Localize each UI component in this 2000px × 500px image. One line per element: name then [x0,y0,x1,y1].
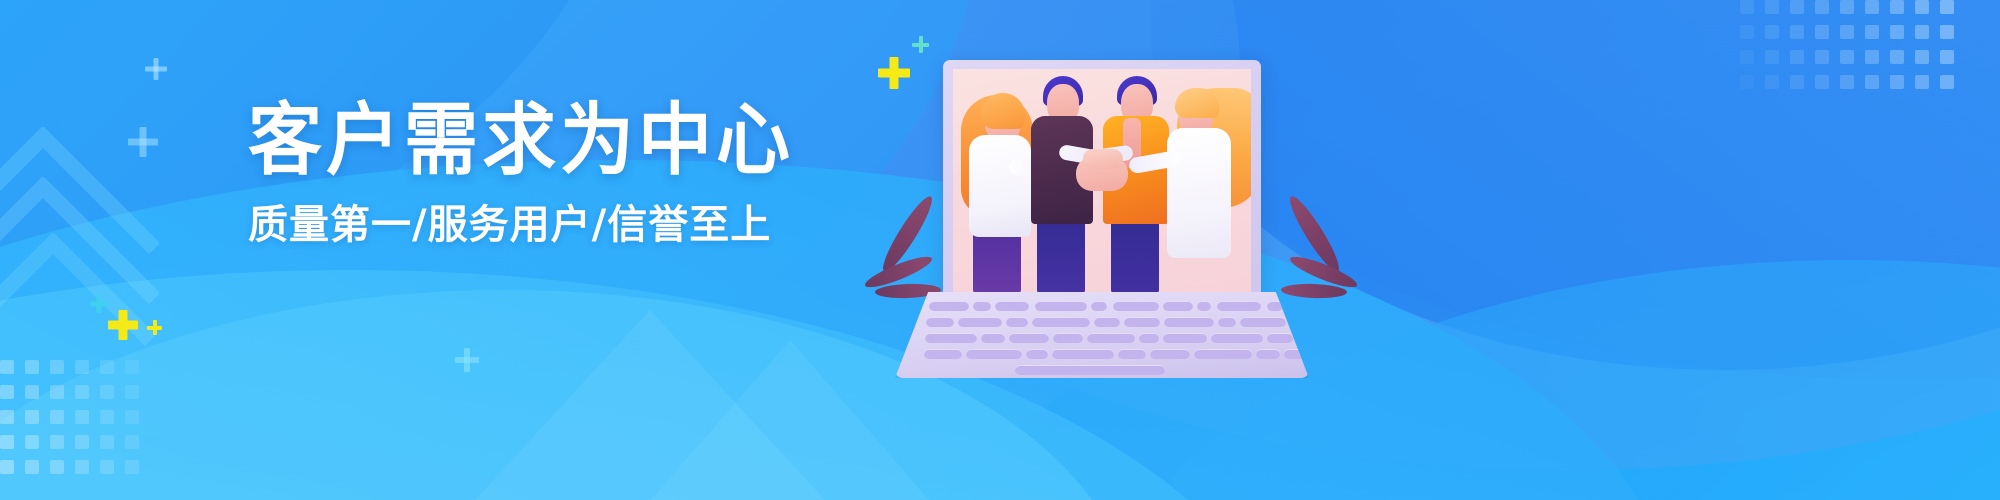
grid-dot [125,435,139,449]
banner-subtitle: 质量第一/服务用户/信誉至上 [248,200,808,250]
keyboard-key [1211,333,1263,343]
grid-dot [50,460,64,474]
keyboard-key [973,301,991,311]
grid-dot [100,360,114,374]
grid-dot [75,385,89,399]
grid-dot [1740,25,1754,39]
person-1-hair-front [981,93,1025,129]
grid-dot [1740,50,1754,64]
keyboard-key [1026,349,1048,359]
grid-dot [1840,0,1854,14]
grid-dot [1815,50,1829,64]
grid-dot [125,385,139,399]
page-title: 客户需求为中心 [248,96,808,185]
keyboard-key [1035,301,1087,311]
keyboard-key [1163,333,1207,343]
keyboard-key [1163,301,1193,311]
laptop-illustration [895,40,1325,370]
dot-grid-top-right [1740,0,2000,120]
grid-dot [1940,0,1954,14]
grid-dot [1865,25,1879,39]
grid-dot [25,360,39,374]
grid-dot [1790,75,1804,89]
keyboard-key [1032,317,1090,327]
keyboard-key [1218,317,1236,327]
keyboard-key [1267,301,1283,311]
keyboard-key [1124,317,1160,327]
keyboard-key [1113,301,1159,311]
keyboard-key [1256,349,1280,359]
grid-dot [100,460,114,474]
grid-dot [0,385,14,399]
grid-dot [100,385,114,399]
grid-dot [1915,25,1929,39]
plus-icon-pale-left [128,127,158,157]
grid-dot [0,460,14,474]
grid-dot [50,410,64,424]
grid-dot [75,460,89,474]
keyboard-key [1150,349,1190,359]
promo-banner: 客户需求为中心 质量第一/服务用户/信誉至上 [0,0,2000,500]
keyboard-key [1091,301,1107,311]
grid-dot [1840,25,1854,39]
grid-dot [1865,0,1879,14]
grid-dot [1890,75,1904,89]
grid-dot [0,360,14,374]
grid-dot [100,435,114,449]
grid-dot [1940,25,1954,39]
grid-dot [125,410,139,424]
keyboard-key [1164,317,1214,327]
grid-dot [50,435,64,449]
grid-dot [1890,0,1904,14]
keyboard-key [1006,317,1028,327]
keyboard-key [1087,333,1135,343]
person-4 [1159,69,1251,294]
keyboard-key [1194,349,1252,359]
keyboard-key [1094,317,1120,327]
keyboard-key [1052,349,1114,359]
grid-dot [50,385,64,399]
grid-dot [125,360,139,374]
grid-dot [0,435,14,449]
keyboard-key [995,301,1029,311]
grid-dot [1865,50,1879,64]
keyboard-key [1118,349,1146,359]
grid-dot [100,410,114,424]
grid-dot [1915,0,1929,14]
keyboard-key [1240,317,1286,327]
laptop-lid [943,60,1261,300]
grid-dot [1890,25,1904,39]
grid-dot [1815,0,1829,14]
keyboard-key [1009,333,1049,343]
grid-dot [0,410,14,424]
grid-dot [1765,75,1779,89]
person-1-cardigan [969,135,1031,237]
grid-dot [1765,50,1779,64]
plus-icon-cyan-bottom [90,295,108,313]
keyboard-key [1290,317,1304,327]
keyboard-key [924,349,962,359]
grid-dot [1915,75,1929,89]
keyboard-key [925,333,977,343]
grid-dot [1840,50,1854,64]
grid-dot [75,410,89,424]
grid-dot [1790,50,1804,64]
keyboard-key [1053,333,1083,343]
keyboard-key [1267,333,1293,343]
grid-dot [1765,25,1779,39]
grid-dot [1915,50,1929,64]
plus-icon-yellow-bottom-small [147,320,162,335]
grid-dot [125,460,139,474]
keyboard-key [1217,301,1261,311]
grid-dot [1940,75,1954,89]
keyboard-key [1284,349,1316,359]
joined-hands-upper [1083,149,1123,169]
plus-icon-pale-top-left [145,58,167,80]
keyboard-key [1297,333,1315,343]
person-4-dress [1167,128,1231,258]
grid-dot [1740,75,1754,89]
grid-dot [1790,25,1804,39]
keyboard-key-spacebar [1015,365,1165,375]
grid-dot [1840,75,1854,89]
grid-dot [1740,0,1754,14]
laptop-keyboard-base [895,292,1309,378]
grid-dot [75,360,89,374]
grid-dot [25,435,39,449]
laptop-screen [953,69,1251,294]
keyboard-key [926,317,954,327]
keyboard-key [1197,301,1211,311]
keyboard-key [929,301,969,311]
keyboard-key [1139,333,1159,343]
grid-dot [25,385,39,399]
keyboard-key [966,349,1022,359]
grid-dot [1815,25,1829,39]
keyboard-key [981,333,1005,343]
grid-dot [25,410,39,424]
plus-icon-yellow-bottom [108,310,138,340]
grid-dot [1890,50,1904,64]
grid-dot [1815,75,1829,89]
grid-dot [25,460,39,474]
banner-text-block: 客户需求为中心 质量第一/服务用户/信誉至上 [248,96,808,250]
grid-dot [75,435,89,449]
leaf-right-3 [1281,283,1347,299]
plus-icon-cyan-center-bottom [455,348,479,372]
grid-dot [1940,50,1954,64]
keyboard-key [958,317,1002,327]
grid-dot [1790,0,1804,14]
grid-dot [50,360,64,374]
grid-dot [1765,0,1779,14]
grid-dot [1865,75,1879,89]
dot-grid-bottom-left [0,360,190,500]
person-4-hair-front [1175,88,1219,118]
